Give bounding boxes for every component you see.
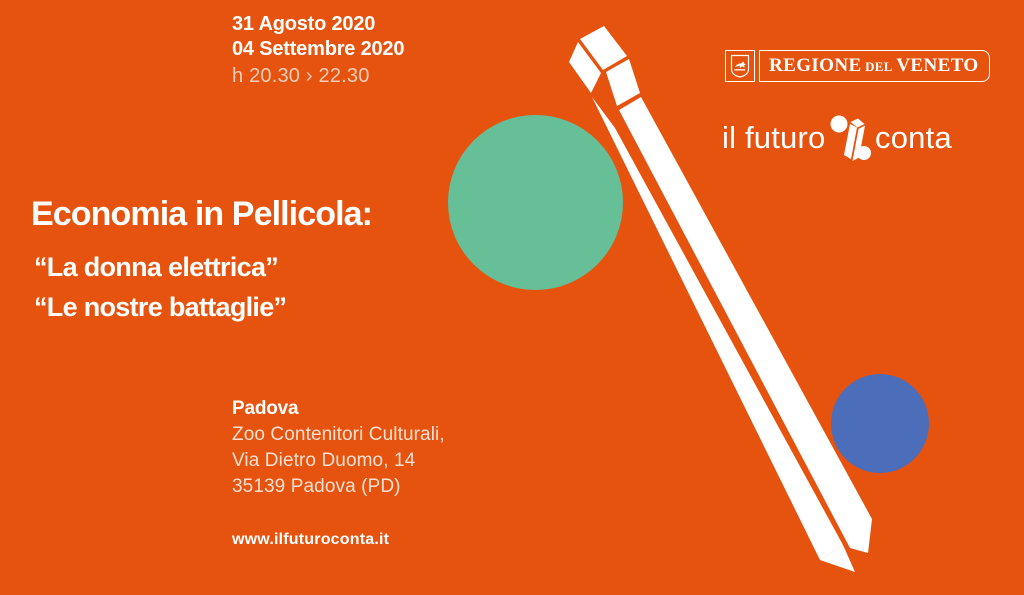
page-title: Economia in Pellicola: <box>31 193 372 235</box>
event-poster: 31 Agosto 2020 04 Settembre 2020 h 20.30… <box>0 0 1024 595</box>
regione-veneto-name-box: REGIONE DEL VENETO <box>759 50 990 82</box>
film-title-2: “Le nostre battaglie” <box>34 287 372 327</box>
pencil-percent-mark-icon <box>826 112 878 164</box>
regione-word-3: VENETO <box>896 55 978 76</box>
event-date-block: 31 Agosto 2020 04 Settembre 2020 h 20.30… <box>232 12 404 90</box>
venue-street: Via Dietro Duomo, 14 <box>232 448 445 474</box>
venue-city: Padova <box>232 396 445 422</box>
green-circle-icon <box>448 115 623 290</box>
regione-word-1: REGIONE <box>769 55 862 76</box>
event-time: h 20.30 › 22.30 <box>232 62 404 90</box>
venue-place: Zoo Contenitori Culturali, <box>232 422 445 448</box>
venue-postal: 35139 Padova (PD) <box>232 474 445 500</box>
regione-word-del: DEL <box>865 59 893 74</box>
website-link[interactable]: www.ilfuturoconta.it <box>232 531 389 549</box>
event-title-block: Economia in Pellicola: “La donna elettri… <box>31 193 372 327</box>
regione-veneto-logo[interactable]: REGIONE DEL VENETO <box>725 50 990 82</box>
film-title-1: “La donna elettrica” <box>34 247 372 287</box>
futuro-logo-word-1: il futuro <box>722 120 825 156</box>
event-date-line-2: 04 Settembre 2020 <box>232 37 404 62</box>
il-futuro-conta-logo[interactable]: il futuro conta <box>722 112 947 164</box>
blue-circle-icon <box>831 374 929 473</box>
veneto-lion-crest-icon <box>725 50 755 82</box>
regione-veneto-name: REGIONE DEL VENETO <box>769 55 979 77</box>
venue-block: Padova Zoo Contenitori Culturali, Via Di… <box>232 396 445 500</box>
futuro-logo-word-2: conta <box>875 120 952 156</box>
event-date-line-1: 31 Agosto 2020 <box>232 12 404 37</box>
film-list: “La donna elettrica” “Le nostre battagli… <box>31 247 372 327</box>
